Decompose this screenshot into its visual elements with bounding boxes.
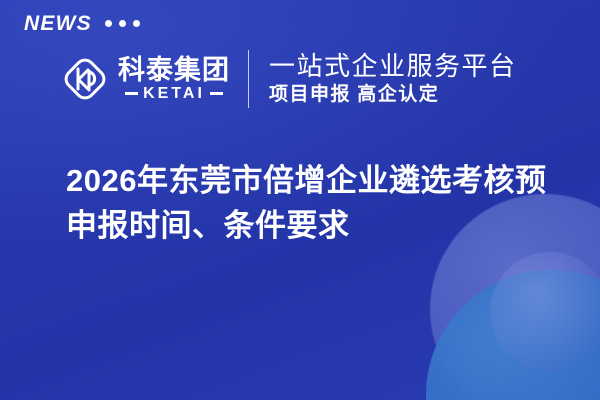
slogan-main: 一站式企业服务平台 <box>269 52 517 81</box>
news-dot <box>119 20 126 27</box>
news-label: NEWS <box>24 13 92 34</box>
brand-name-en-row: KETAI <box>118 86 230 102</box>
news-dot <box>133 20 140 27</box>
slogan: 一站式企业服务平台 项目申报 高企认定 <box>269 52 517 107</box>
news-dots-icon <box>105 20 140 28</box>
brand-name-en: KETAI <box>143 86 205 102</box>
brand-divider <box>248 50 249 108</box>
brand-name-cn: 科泰集团 <box>118 56 230 84</box>
news-banner: NEWS <box>0 0 600 400</box>
slogan-sub: 项目申报 高企认定 <box>269 84 517 107</box>
brand-rule-left <box>125 92 138 95</box>
brand-name-block: 科泰集团 KETAI <box>118 56 230 101</box>
page-title-line-2: 申报时间、条件要求 <box>66 203 536 248</box>
page-title: 2026年东莞市倍增企业遴选考核预 申报时间、条件要求 <box>66 158 536 248</box>
brand-rule-right <box>210 92 223 95</box>
eyebrow: NEWS <box>24 13 140 34</box>
decorative-circle-soft-glow <box>490 252 600 372</box>
brand-header: 科泰集团 KETAI 一站式企业服务平台 项目申报 高企认定 <box>0 44 600 114</box>
ketai-diamond-monogram-icon <box>60 54 110 104</box>
page-title-line-1: 2026年东莞市倍增企业遴选考核预 <box>66 158 536 203</box>
brand-logo: 科泰集团 KETAI <box>60 54 230 104</box>
news-dot <box>105 20 112 27</box>
